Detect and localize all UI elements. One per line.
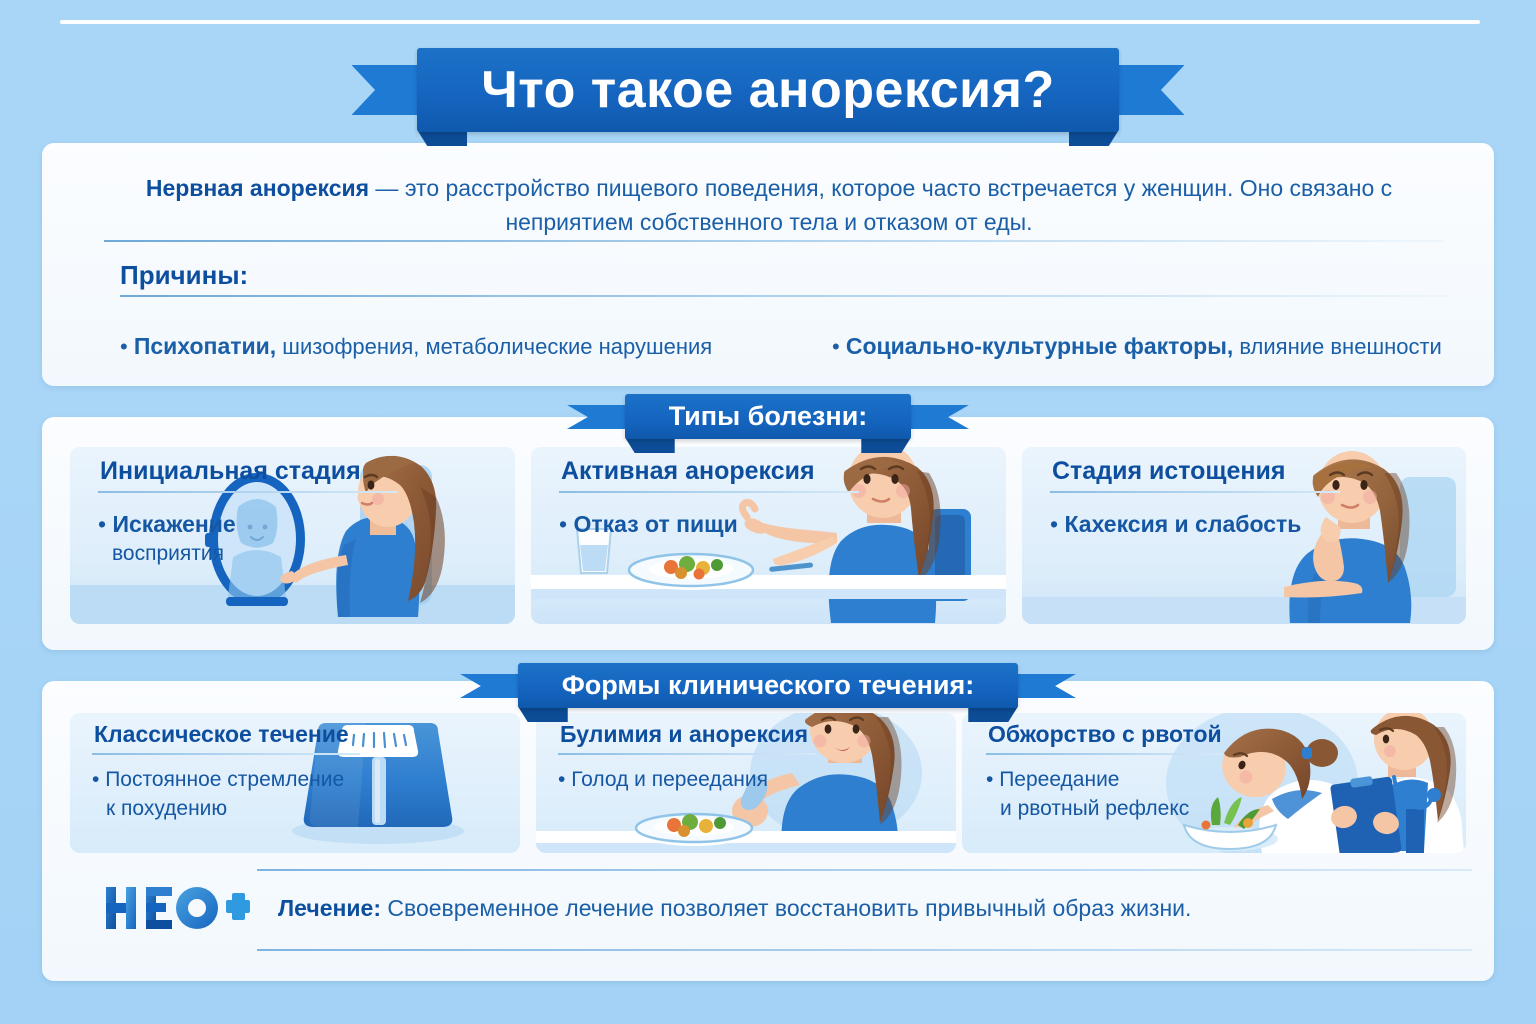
treatment-label: Лечение: bbox=[278, 895, 381, 921]
form-card-classic: Классическое течение • Постоянное стремл… bbox=[70, 713, 520, 853]
intro-body: — это расстройство пищевого поведения, к… bbox=[369, 175, 1392, 235]
neo-plus-logo-icon bbox=[104, 881, 250, 935]
form-card-bulimia: Булимия и анорексия • Голод и переедания bbox=[536, 713, 956, 853]
cause-item-2: • Социально-культурные факторы, влияние … bbox=[832, 333, 1442, 360]
type-card-3-rule bbox=[1050, 491, 1340, 493]
bullet-dot: • bbox=[832, 334, 846, 359]
cause-2-rest: влияние внешности bbox=[1233, 334, 1442, 359]
intro-divider bbox=[104, 240, 1444, 242]
page-title: Что такое анорексия? bbox=[417, 48, 1119, 132]
causes-divider bbox=[120, 295, 1450, 297]
form-card-1-bullet-rest: к похудению bbox=[92, 794, 344, 823]
form-card-1-bullet: • Постоянное стремление к похудению bbox=[92, 765, 344, 823]
ribbon-tail-right bbox=[1115, 65, 1185, 115]
title-banner: Что такое анорексия? bbox=[0, 48, 1536, 132]
treatment-text: Своевременное лечение позволяет восстано… bbox=[381, 895, 1191, 921]
type-card-1-bullet-bold: Искажение bbox=[112, 511, 235, 537]
form-card-1-title-bold: Классическое течение bbox=[94, 721, 349, 747]
bullet-dot: • bbox=[98, 511, 112, 537]
type-card-initial: Инициальная стадия • Искажение восприяти… bbox=[70, 447, 515, 624]
form-card-2-bullet: • Голод и переедания bbox=[558, 765, 768, 794]
type-card-active: Активная анорексия • Отказ от пищи bbox=[531, 447, 1006, 624]
cause-1-rest: шизофрения, метаболические нарушения bbox=[276, 334, 712, 359]
form-card-1-title: Классическое течение bbox=[94, 721, 349, 748]
form-card-3-title-bold: Обжорство с рвотой bbox=[988, 721, 1222, 747]
intro-lead: Нервная анорексия bbox=[146, 175, 369, 201]
form-card-2-title-rest: и анорексия bbox=[662, 721, 808, 747]
bullet-dot: • bbox=[1050, 511, 1064, 537]
ribbon-tail-left bbox=[351, 65, 421, 115]
causes-heading: Причины: bbox=[120, 260, 248, 291]
type-card-2-bullet-bold: Отказ от пищи bbox=[573, 511, 737, 537]
bullet-dot: • bbox=[559, 511, 573, 537]
type-card-3-bullet-bold: Кахексия и слабость bbox=[1064, 511, 1301, 537]
form-card-1-bullet-bold: Постоянное стремление bbox=[105, 768, 344, 791]
bullet-dot: • bbox=[92, 768, 105, 791]
bullet-dot: • bbox=[986, 768, 999, 791]
intro-paragraph: Нервная анорексия — это расстройство пищ… bbox=[104, 171, 1434, 239]
type-card-2-title: Активная анорексия bbox=[561, 457, 815, 486]
bullet-dot: • bbox=[120, 334, 134, 359]
types-panel: Инициальная стадия • Искажение восприяти… bbox=[42, 417, 1494, 650]
forms-banner-label: Формы клинического течения: bbox=[518, 663, 1019, 708]
forms-panel: Классическое течение • Постоянное стремл… bbox=[42, 681, 1494, 981]
cause-2-lead: Социально-культурные факторы, bbox=[846, 333, 1233, 359]
cause-item-1: • Психопатии, шизофрения, метаболические… bbox=[120, 333, 712, 360]
form-card-3-rule bbox=[986, 753, 1222, 755]
treatment-line: Лечение: Своевременное лечение позволяет… bbox=[278, 895, 1191, 922]
types-banner-label: Типы болезни: bbox=[625, 394, 912, 439]
footer-divider-bottom bbox=[257, 949, 1472, 951]
type-card-1-title: Инициальная стадия bbox=[100, 457, 361, 486]
form-card-3-bullet-bold: Переедание bbox=[999, 768, 1119, 791]
form-card-2-title: Булимия и анорексия bbox=[560, 721, 808, 748]
top-divider bbox=[60, 20, 1480, 24]
brand-logo bbox=[104, 881, 250, 935]
type-card-2-rule bbox=[559, 491, 859, 493]
form-card-binge: Обжорство с рвотой • Переедание и рвотны… bbox=[962, 713, 1466, 853]
type-card-2-bullet: • Отказ от пищи bbox=[559, 509, 738, 539]
form-card-2-bullet-bold: Голод и переедания bbox=[571, 768, 768, 791]
form-card-3-bullet: • Переедание и рвотный рефлекс bbox=[986, 765, 1189, 823]
cause-1-lead: Психопатии, bbox=[134, 333, 276, 359]
type-card-1-rule bbox=[98, 491, 398, 493]
type-card-exhaustion: Стадия истощения • Кахексия и слабость bbox=[1022, 447, 1466, 624]
intro-panel: Нервная анорексия — это расстройство пищ… bbox=[42, 143, 1494, 386]
form-card-1-rule bbox=[92, 753, 360, 755]
footer-divider-top bbox=[257, 869, 1472, 871]
form-card-2-title-bold: Булимия bbox=[560, 721, 662, 747]
form-card-3-title: Обжорство с рвотой bbox=[988, 721, 1222, 748]
bullet-dot: • bbox=[558, 768, 571, 791]
type-card-1-bullet-rest: восприятия bbox=[98, 539, 236, 569]
type-card-3-bullet: • Кахексия и слабость bbox=[1050, 509, 1301, 539]
type-card-1-bullet: • Искажение восприятия bbox=[98, 509, 236, 569]
form-card-2-rule bbox=[558, 753, 816, 755]
type-card-3-title: Стадия истощения bbox=[1052, 457, 1285, 486]
form-card-3-bullet-rest: и рвотный рефлекс bbox=[986, 794, 1189, 823]
